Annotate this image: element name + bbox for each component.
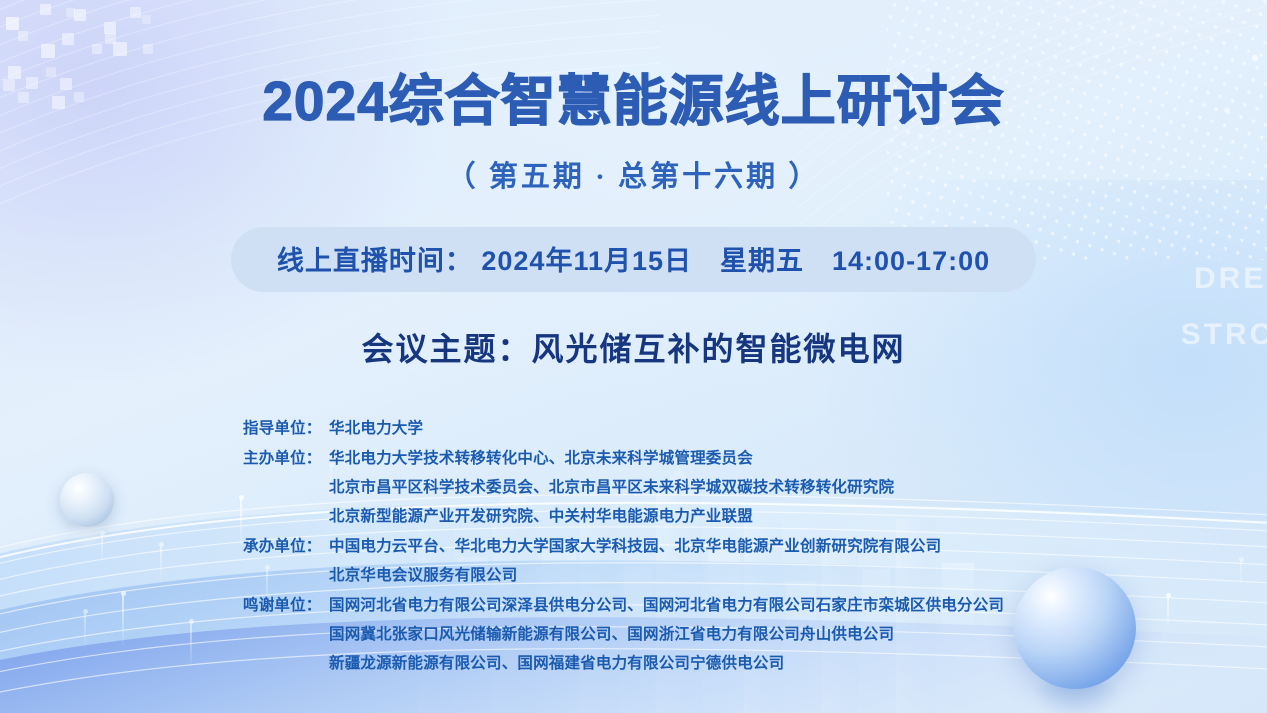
- organization-row: 新疆龙源新能源有限公司、国网福建省电力有限公司宁德供电公司: [243, 649, 1143, 678]
- page-subtitle: （ 第五期 · 总第十六期 ）: [0, 153, 1267, 195]
- organization-label: 承办单位：: [243, 532, 329, 561]
- organization-block-host: 主办单位： 华北电力大学技术转移转化中心、北京未来科学城管理委员会 北京市昌平区…: [243, 444, 1143, 531]
- organization-label: 指导单位：: [243, 414, 329, 443]
- organization-value: 华北电力大学: [329, 414, 1143, 443]
- poster-content: 2024综合智慧能源线上研讨会 （ 第五期 · 总第十六期 ） 线上直播时间： …: [0, 72, 1267, 678]
- organization-row: 北京新型能源产业开发研究院、中关村华电能源电力产业联盟: [243, 502, 1143, 531]
- page-title: 2024综合智慧能源线上研讨会: [0, 72, 1267, 131]
- organization-value: 新疆龙源新能源有限公司、国网福建省电力有限公司宁德供电公司: [329, 649, 1143, 678]
- organization-value: 北京市昌平区科学技术委员会、北京市昌平区未来科学城双碳技术转移转化研究院: [329, 473, 1143, 502]
- organization-label: 主办单位：: [243, 444, 329, 473]
- organization-value: 华北电力大学技术转移转化中心、北京未来科学城管理委员会: [329, 444, 1143, 473]
- conference-poster: 美好 DREAM STRONG: [0, 0, 1267, 713]
- organizations-list: 指导单位： 华北电力大学 主办单位： 华北电力大学技术转移转化中心、北京未来科学…: [243, 414, 1143, 678]
- organization-value: 国网河北省电力有限公司深泽县供电分公司、国网河北省电力有限公司石家庄市栾城区供电…: [329, 591, 1143, 620]
- organization-row: 国网冀北张家口风光储输新能源有限公司、国网浙江省电力有限公司舟山供电公司: [243, 620, 1143, 649]
- organization-block-guidance: 指导单位： 华北电力大学: [243, 414, 1143, 443]
- organization-row: 指导单位： 华北电力大学: [243, 414, 1143, 443]
- organization-row: 鸣谢单位： 国网河北省电力有限公司深泽县供电分公司、国网河北省电力有限公司石家庄…: [243, 591, 1143, 620]
- broadcast-time-badge: 线上直播时间： 2024年11月15日 星期五 14:00-17:00: [231, 227, 1036, 292]
- organization-value: 北京华电会议服务有限公司: [329, 561, 1143, 590]
- conference-theme: 会议主题：风光储互补的智能微电网: [0, 324, 1267, 370]
- organization-row: 主办单位： 华北电力大学技术转移转化中心、北京未来科学城管理委员会: [243, 444, 1143, 473]
- organization-value: 中国电力云平台、华北电力大学国家大学科技园、北京华电能源产业创新研究院有限公司: [329, 532, 1143, 561]
- organization-row: 承办单位： 中国电力云平台、华北电力大学国家大学科技园、北京华电能源产业创新研究…: [243, 532, 1143, 561]
- organization-value: 北京新型能源产业开发研究院、中关村华电能源电力产业联盟: [329, 502, 1143, 531]
- organization-row: 北京市昌平区科学技术委员会、北京市昌平区未来科学城双碳技术转移转化研究院: [243, 473, 1143, 502]
- organization-label: 鸣谢单位：: [243, 591, 329, 620]
- organization-block-organizer: 承办单位： 中国电力云平台、华北电力大学国家大学科技园、北京华电能源产业创新研究…: [243, 532, 1143, 590]
- organization-row: 北京华电会议服务有限公司: [243, 561, 1143, 590]
- organization-value: 国网冀北张家口风光储输新能源有限公司、国网浙江省电力有限公司舟山供电公司: [329, 620, 1143, 649]
- broadcast-time-container: 线上直播时间： 2024年11月15日 星期五 14:00-17:00: [0, 227, 1267, 292]
- organization-block-acknowledgement: 鸣谢单位： 国网河北省电力有限公司深泽县供电分公司、国网河北省电力有限公司石家庄…: [243, 591, 1143, 678]
